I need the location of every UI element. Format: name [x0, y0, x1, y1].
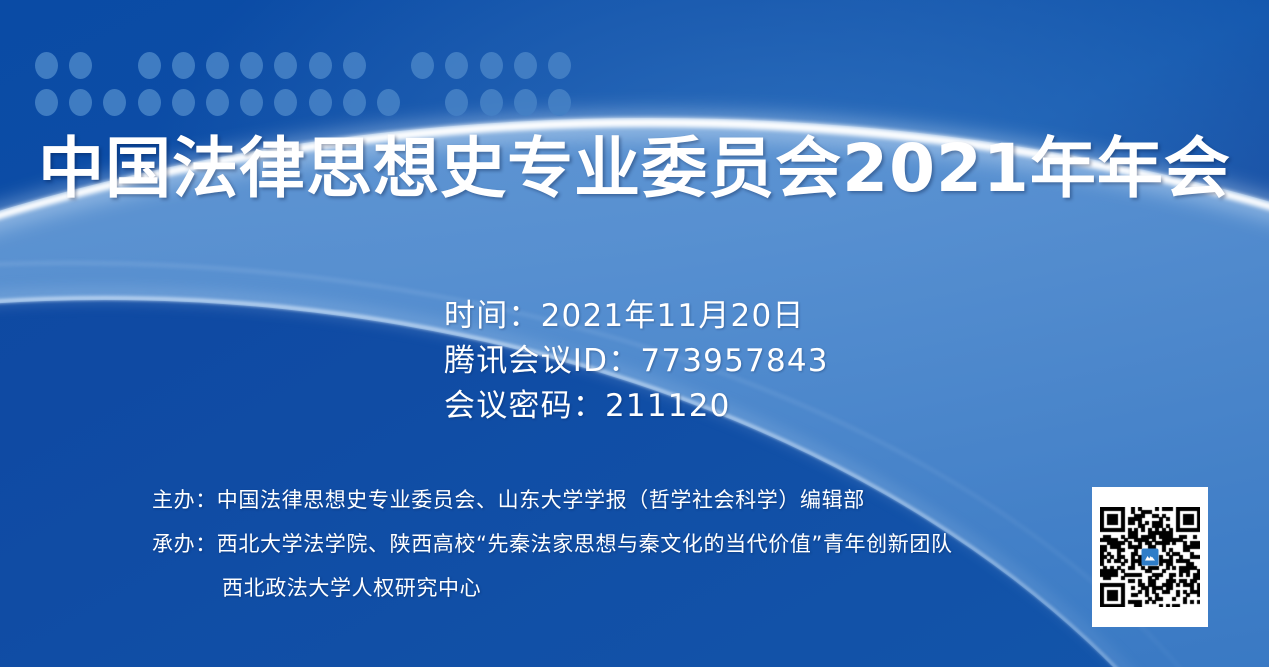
- decorative-dot: [309, 89, 332, 116]
- decorative-dot: [514, 52, 537, 79]
- decorative-dot: [69, 52, 92, 79]
- host-organizer-line: 主办：中国法律思想史专业委员会、山东大学学报（哲学社会科学）编辑部: [152, 478, 953, 522]
- decorative-dot: [274, 89, 297, 116]
- organizers-block: 主办：中国法律思想史专业委员会、山东大学学报（哲学社会科学）编辑部 承办：西北大…: [152, 478, 953, 610]
- decorative-dot: [480, 52, 503, 79]
- decorative-dot: [480, 89, 503, 116]
- decorative-dot: [206, 89, 229, 116]
- decorative-dot: [172, 52, 195, 79]
- decorative-dot: [35, 89, 58, 116]
- meeting-info-block: 时间：2021年11月20日 腾讯会议ID：773957843 会议密码：211…: [444, 294, 829, 429]
- qr-code[interactable]: [1092, 487, 1208, 627]
- decorative-dot: [103, 89, 126, 116]
- decorative-dot: [343, 52, 366, 79]
- page-title: 中国法律思想史专业委员会2021年年会: [0, 133, 1269, 204]
- decorative-dot: [69, 89, 92, 116]
- meeting-date-line: 时间：2021年11月20日: [444, 294, 829, 339]
- decorative-dot: [411, 52, 434, 79]
- decorative-dot: [445, 52, 468, 79]
- decorative-dot: [514, 89, 537, 116]
- decorative-dot: [548, 89, 571, 116]
- conference-poster: 中国法律思想史专业委员会2021年年会 时间：2021年11月20日 腾讯会议I…: [0, 0, 1269, 667]
- decorative-dot-pattern: [0, 0, 640, 130]
- meeting-password-line: 会议密码：211120: [444, 384, 829, 429]
- decorative-dot: [274, 52, 297, 79]
- meeting-id-line: 腾讯会议ID：773957843: [444, 339, 829, 384]
- decorative-dot: [35, 52, 58, 79]
- decorative-dot: [377, 89, 400, 116]
- decorative-dot: [138, 89, 161, 116]
- decorative-dot: [445, 89, 468, 116]
- decorative-dot: [240, 52, 263, 79]
- decorative-dot: [309, 52, 332, 79]
- mountain-logo-icon: [1142, 549, 1159, 566]
- decorative-dot: [206, 52, 229, 79]
- co-organizer-line: 承办：西北大学法学院、陕西高校“先秦法家思想与秦文化的当代价值”青年创新团队: [152, 522, 953, 566]
- decorative-dot: [548, 52, 571, 79]
- co-organizer-line-2: 西北政法大学人权研究中心: [152, 566, 953, 610]
- decorative-dot: [240, 89, 263, 116]
- decorative-dot: [172, 89, 195, 116]
- decorative-dot: [343, 89, 366, 116]
- decorative-dot: [138, 52, 161, 79]
